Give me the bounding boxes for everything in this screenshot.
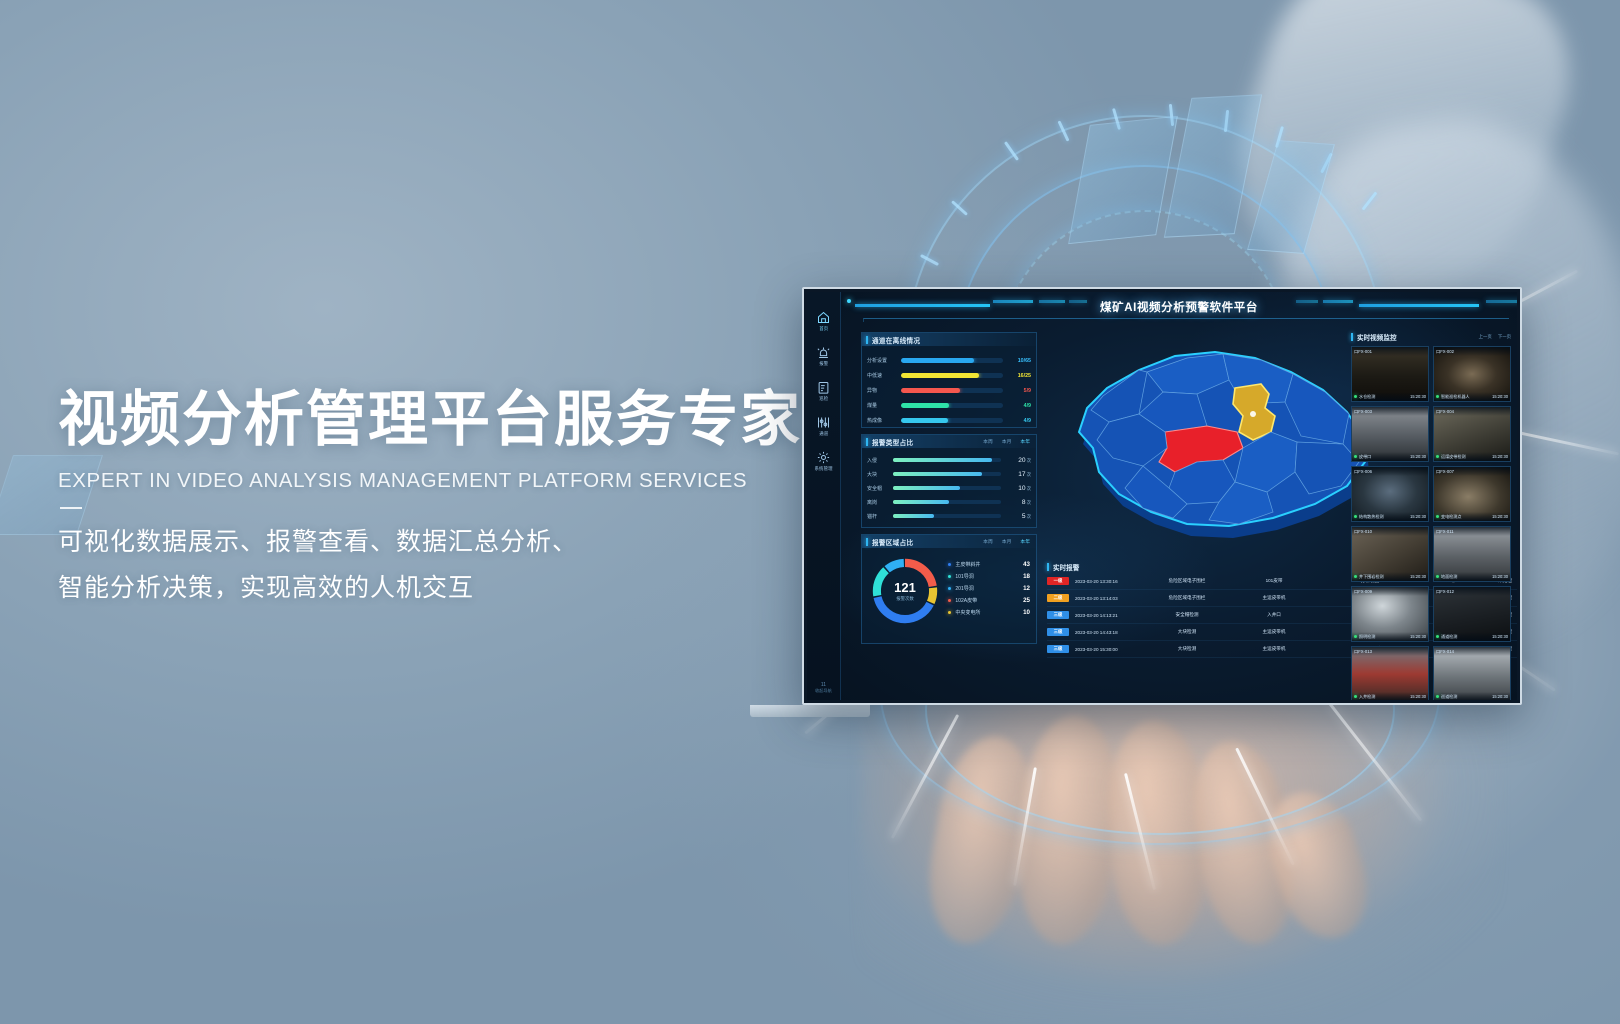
- page-subtitle: EXPERT IN VIDEO ANALYSIS MANAGEMENT PLAT…: [58, 469, 838, 493]
- video-bottom-overlay: 结构散热检测15:20:30: [1352, 512, 1428, 521]
- video-name: 照明检测: [1359, 634, 1375, 640]
- video-channel-tag: 口FX-011: [1436, 529, 1454, 535]
- alarm-type-unit: 次: [1027, 500, 1031, 505]
- channel-row-track: [901, 358, 1003, 363]
- legend-label: 201导洞: [955, 585, 973, 592]
- divider: [60, 507, 82, 509]
- alarm-type-value: 20次: [1001, 457, 1031, 464]
- video-bottom-overlay: 运煤皮带检测15:20:30: [1434, 452, 1510, 461]
- video-channel-tag: 口FX-009: [1354, 589, 1372, 595]
- alarm-type-fill: [893, 472, 982, 477]
- alarm-type-value: 10次: [1001, 485, 1031, 492]
- alarm-type-row: 离岗8次: [867, 495, 1031, 509]
- video-name: 水仓检测: [1359, 394, 1375, 400]
- status-badge: 三级: [1047, 645, 1069, 653]
- video-timestamp: 15:20:30: [1492, 694, 1508, 699]
- alarm-type-value: 17次: [1001, 471, 1031, 478]
- online-status-dot: [1436, 455, 1439, 458]
- legend-value: 18: [1023, 573, 1030, 580]
- channel-row-label: 煤量: [867, 402, 901, 409]
- video-timestamp: 15:20:30: [1410, 514, 1426, 519]
- video-bottom-overlay: 巡道检测15:20:30: [1434, 692, 1510, 700]
- video-channel-tag: 口FX-004: [1436, 409, 1454, 415]
- channel-row-track: [901, 388, 1003, 393]
- video-cell[interactable]: 口FX-006结构散热检测15:20:30: [1351, 466, 1429, 522]
- channel-row-fill: [901, 358, 974, 363]
- alarm-location: 主运皮带机: [1233, 646, 1315, 652]
- channel-row-value: 4/9: [1003, 403, 1031, 409]
- video-bottom-overlay: 智能巡检机器人15:20:30: [1434, 392, 1510, 401]
- video-monitor-panel: 实时视频监控 上一页 下一页 口FX-001水仓检测15:20:30口FX-00…: [1351, 330, 1511, 694]
- alarm-type-value: 5次: [1001, 513, 1031, 520]
- monitor-stand: [750, 705, 870, 717]
- video-channel-tag: 口FX-006: [1354, 469, 1372, 475]
- video-bottom-overlay: 皮带口15:20:30: [1352, 452, 1428, 461]
- app-title: 煤矿AI视频分析预警软件平台: [841, 299, 1517, 315]
- video-timestamp: 15:20:30: [1410, 634, 1426, 639]
- alarm-area-panel: 报警区域占比 本周本月本年 121 报警次数 主皮带斜井43101导洞18201…: [861, 534, 1037, 644]
- video-channel-tag: 口FX-001: [1354, 349, 1372, 355]
- video-bottom-overlay: 通道检测15:20:30: [1434, 632, 1510, 641]
- legend-color-dot: [948, 599, 951, 602]
- time-range-tabs: 本周本月本年: [983, 438, 1032, 445]
- video-timestamp: 15:20:30: [1410, 694, 1426, 699]
- online-status-dot: [1354, 695, 1357, 698]
- video-channel-tag: 口FX-010: [1354, 529, 1372, 535]
- video-top-overlay: 口FX-001: [1352, 347, 1428, 356]
- channel-row-label: 分析设置: [867, 357, 901, 364]
- legend-color-dot: [948, 563, 951, 566]
- legend-label: 101导洞: [955, 573, 973, 580]
- alarm-type-panel: 报警类型占比 本周本月本年 入侵20次大块17次安全帽10次离岗8次锚杆5次: [861, 434, 1037, 528]
- status-badge: 二级: [1047, 594, 1069, 602]
- time-range-tab[interactable]: 本月: [1002, 538, 1012, 545]
- video-top-overlay: 口FX-004: [1434, 407, 1510, 416]
- time-range-tab[interactable]: 本月: [1002, 438, 1012, 445]
- map-svg: [1047, 330, 1387, 555]
- channel-row-value: 16/25: [1003, 373, 1031, 379]
- online-status-dot: [1436, 515, 1439, 518]
- video-cell[interactable]: 口FX-011地面检测15:20:30: [1433, 526, 1511, 582]
- legend-value: 43: [1023, 561, 1030, 568]
- channel-row-label: 中低速: [867, 372, 901, 379]
- legend-value: 10: [1023, 609, 1030, 616]
- alarm-type-track: [893, 472, 1001, 477]
- online-status-dot: [1354, 635, 1357, 638]
- video-name: 地面检测: [1441, 574, 1457, 580]
- channel-row: 分析设置10/65: [867, 353, 1031, 368]
- alarm-location: 101皮带: [1233, 578, 1315, 584]
- channel-row-fill: [901, 373, 979, 378]
- video-timestamp: 15:20:30: [1410, 574, 1426, 579]
- video-cell[interactable]: 口FX-012通道检测15:20:30: [1433, 586, 1511, 642]
- time-range-tabs: 本周本月本年: [983, 538, 1032, 545]
- next-page-button[interactable]: 下一页: [1498, 334, 1511, 340]
- channel-row-label: 热成像: [867, 417, 901, 424]
- sidebar-item-label: 巡检: [819, 396, 828, 402]
- channel-row-fill: [901, 388, 960, 393]
- dashboard-content: 煤矿AI视频分析预警软件平台: [841, 292, 1517, 700]
- hero-description-line1: 可视化数据展示、报警查看、数据汇总分析、: [58, 519, 838, 565]
- alarm-type-unit: 次: [1027, 458, 1031, 463]
- donut-chart[interactable]: 121 报警次数: [868, 554, 942, 628]
- alarm-type-track: [893, 514, 1001, 519]
- alarm-time: 2023-03-20 15:30:00: [1069, 647, 1141, 652]
- alarm-type-fill: [893, 500, 949, 505]
- alarm-location: 入井口: [1233, 612, 1315, 618]
- online-status-dot: [1436, 635, 1439, 638]
- legend-color-dot: [948, 587, 951, 590]
- panel-title: 通道在离线情况: [872, 335, 920, 345]
- online-status-dot: [1354, 515, 1357, 518]
- alarm-type-fill: [893, 486, 960, 491]
- channel-status-panel: 通道在离线情况 分析设置10/65中低速16/25异物5/9煤量4/9热成像4/…: [861, 332, 1037, 428]
- video-top-overlay: 口FX-012: [1434, 587, 1510, 596]
- video-timestamp: 15:20:30: [1492, 634, 1508, 639]
- panel-header: 通道在离线情况: [862, 333, 1036, 346]
- panel-title: 实时报警: [1053, 562, 1079, 572]
- alarm-type: 大块检测: [1141, 646, 1233, 652]
- online-status-dot: [1436, 695, 1439, 698]
- video-cell[interactable]: 口FX-004运煤皮带检测15:20:30: [1433, 406, 1511, 462]
- video-channel-tag: 口FX-007: [1436, 469, 1454, 475]
- alarm-type-track: [893, 500, 1001, 505]
- online-status-dot: [1436, 575, 1439, 578]
- legend-item[interactable]: 主皮带斜井43: [948, 561, 1030, 568]
- video-top-overlay: 口FX-014: [1434, 647, 1510, 656]
- sidebar-item-inspection[interactable]: 巡检: [816, 380, 831, 402]
- alarm-type-label: 安全帽: [867, 485, 893, 492]
- panel-title: 报警类型占比: [872, 437, 913, 447]
- legend-item[interactable]: 中央变电所10: [948, 609, 1030, 616]
- dashboard-monitor: 首页 报警 巡检 通道: [802, 287, 1522, 705]
- panel-header: 实时视频监控 上一页 下一页: [1351, 330, 1511, 343]
- video-name: 井下围岩检测: [1359, 574, 1384, 580]
- clipboard-icon: [816, 380, 831, 395]
- legend-label: 102A皮带: [955, 597, 977, 604]
- home-icon: [816, 310, 831, 325]
- video-bottom-overlay: 井下围岩检测15:20:30: [1352, 572, 1428, 581]
- online-status-dot: [1354, 575, 1357, 578]
- header-bar: 煤矿AI视频分析预警软件平台: [841, 292, 1517, 326]
- video-name: 变电检测点: [1441, 514, 1461, 520]
- video-top-overlay: 口FX-006: [1352, 467, 1428, 476]
- donut-center: 121 报警次数: [868, 554, 942, 628]
- video-name: 智能巡检机器人: [1441, 394, 1470, 400]
- legend-color-dot: [948, 575, 951, 578]
- video-name: 皮带口: [1359, 454, 1371, 460]
- alarm-type-label: 大块: [867, 471, 893, 478]
- video-timestamp: 15:20:30: [1492, 514, 1508, 519]
- channel-row: 热成像4/9: [867, 413, 1031, 428]
- alarm-type-fill: [893, 514, 934, 519]
- alarm-type-label: 入侵: [867, 457, 893, 464]
- video-name: 运煤皮带检测: [1441, 454, 1466, 460]
- video-name: 通道检测: [1441, 634, 1457, 640]
- legend-color-dot: [948, 611, 951, 614]
- legend-item[interactable]: 101导洞18: [948, 573, 1030, 580]
- time-range-tab[interactable]: 本周: [983, 538, 993, 545]
- alarm-time: 2023-03-20 13:14:03: [1069, 596, 1141, 601]
- donut-legend: 主皮带斜井43101导洞18201导洞12102A皮带25中央变电所10: [942, 554, 1032, 628]
- sidebar-item-channel[interactable]: 通道: [816, 415, 831, 437]
- channel-row: 中低速16/25: [867, 368, 1031, 383]
- legend-value: 25: [1023, 597, 1030, 604]
- sidebar-item-label: 报警: [819, 361, 828, 367]
- status-badge: 三级: [1047, 611, 1069, 619]
- panel-header: 报警区域占比 本周本月本年: [862, 535, 1036, 548]
- video-cell[interactable]: 口FX-014巡道检测15:20:30: [1433, 646, 1511, 700]
- sidebar-footer[interactable]: 11 收起导航: [815, 682, 832, 694]
- alarm-type-unit: 次: [1027, 486, 1031, 491]
- alarm-type-fill: [893, 458, 992, 463]
- time-range-tab[interactable]: 本周: [983, 438, 993, 445]
- sidebar-item-label: 通道: [819, 431, 828, 437]
- alarm-type-label: 离岗: [867, 499, 893, 506]
- sidebar-item-system[interactable]: 系统管理: [814, 450, 833, 472]
- online-status-dot: [1354, 455, 1357, 458]
- video-cell[interactable]: 口FX-003皮带口15:20:30: [1351, 406, 1429, 462]
- video-bottom-overlay: 入井检测15:20:30: [1352, 692, 1428, 700]
- alarm-type-label: 锚杆: [867, 513, 893, 520]
- channel-row-value: 4/9: [1003, 418, 1031, 424]
- alarm-type-unit: 次: [1027, 472, 1031, 477]
- channel-row-value: 10/65: [1003, 358, 1031, 364]
- status-badge: 三级: [1047, 628, 1069, 636]
- video-grid: 口FX-001水仓检测15:20:30口FX-002智能巡检机器人15:20:3…: [1351, 346, 1511, 700]
- alarm-type: 危险区域电子围栏: [1141, 578, 1233, 584]
- video-timestamp: 15:20:30: [1410, 394, 1426, 399]
- video-channel-tag: 口FX-012: [1436, 589, 1454, 595]
- donut-center-value: 121: [894, 581, 916, 594]
- sidebar-item-label: 首页: [819, 326, 828, 332]
- video-top-overlay: 口FX-010: [1352, 527, 1428, 536]
- online-status-dot: [1354, 395, 1357, 398]
- sidebar-item-label: 系统管理: [814, 466, 832, 472]
- channel-row-track: [901, 373, 1003, 378]
- donut-center-label: 报警次数: [896, 596, 914, 602]
- donut-chart-wrap: 121 报警次数 主皮带斜井43101导洞18201导洞12102A皮带25中央…: [862, 548, 1036, 628]
- alarm-time: 2023-03-20 14:43:18: [1069, 630, 1141, 635]
- channel-row-fill: [901, 418, 948, 423]
- alarm-type-value: 8次: [1001, 499, 1031, 506]
- video-bottom-overlay: 变电检测点15:20:30: [1434, 512, 1510, 521]
- video-cell[interactable]: 口FX-007变电检测点15:20:30: [1433, 466, 1511, 522]
- channel-row-track: [901, 418, 1003, 423]
- alarm-type: 大块检测: [1141, 629, 1233, 635]
- channel-row-fill: [901, 403, 949, 408]
- sidebar-item-alarm[interactable]: 报警: [816, 345, 831, 367]
- time-range-tab[interactable]: 本年: [1020, 538, 1030, 545]
- alarm-location: 主运皮带机: [1233, 595, 1315, 601]
- video-name: 结构散热检测: [1359, 514, 1384, 520]
- video-top-overlay: 口FX-007: [1434, 467, 1510, 476]
- legend-label: 主皮带斜井: [955, 561, 980, 568]
- alarm-type-row: 安全帽10次: [867, 481, 1031, 495]
- alarm-type: 安全帽检测: [1141, 612, 1233, 618]
- gear-icon: [816, 450, 831, 465]
- region-map[interactable]: [1047, 330, 1387, 555]
- channel-row-value: 5/9: [1003, 388, 1031, 394]
- alarm-icon: [816, 345, 831, 360]
- video-bottom-overlay: 水仓检测15:20:30: [1352, 392, 1428, 401]
- alarm-type-row: 大块17次: [867, 467, 1031, 481]
- video-name: 巡道检测: [1441, 694, 1457, 700]
- video-cell[interactable]: 口FX-009照明检测15:20:30: [1351, 586, 1429, 642]
- video-name: 入井检测: [1359, 694, 1375, 700]
- channel-icon: [816, 415, 831, 430]
- legend-item[interactable]: 201导洞12: [948, 585, 1030, 592]
- video-pagination: 上一页 下一页: [1479, 334, 1511, 340]
- alarm-time: 2023-03-20 14:13:21: [1069, 613, 1141, 618]
- dashboard-screen: 首页 报警 巡检 通道: [807, 292, 1517, 700]
- sidebar: 首页 报警 巡检 通道: [807, 292, 841, 700]
- alarm-type-rows: 入侵20次大块17次安全帽10次离岗8次锚杆5次: [862, 448, 1036, 523]
- alarm-type-track: [893, 486, 1001, 491]
- channel-row-label: 异物: [867, 387, 901, 394]
- video-top-overlay: 口FX-011: [1434, 527, 1510, 536]
- channel-rows: 分析设置10/65中低速16/25异物5/9煤量4/9热成像4/9: [862, 346, 1036, 428]
- panel-header: 报警类型占比 本周本月本年: [862, 435, 1036, 448]
- channel-row-track: [901, 403, 1003, 408]
- status-badge: 一级: [1047, 577, 1069, 585]
- alarm-type-row: 入侵20次: [867, 453, 1031, 467]
- video-cell[interactable]: 口FX-002智能巡检机器人15:20:30: [1433, 346, 1511, 402]
- video-timestamp: 15:20:30: [1410, 454, 1426, 459]
- alarm-type: 危险区域电子围栏: [1141, 595, 1233, 601]
- video-bottom-overlay: 照明检测15:20:30: [1352, 632, 1428, 641]
- video-cell[interactable]: 口FX-010井下围岩检测15:20:30: [1351, 526, 1429, 582]
- legend-label: 中央变电所: [955, 609, 980, 616]
- video-channel-tag: 口FX-013: [1354, 649, 1372, 655]
- legend-value: 12: [1023, 585, 1030, 592]
- online-status-dot: [1436, 395, 1439, 398]
- video-timestamp: 15:20:30: [1492, 394, 1508, 399]
- video-top-overlay: 口FX-013: [1352, 647, 1428, 656]
- alarm-type-unit: 次: [1027, 514, 1031, 519]
- page-title: 视频分析管理平台服务专家: [58, 386, 838, 453]
- sidebar-item-home[interactable]: 首页: [816, 310, 831, 332]
- video-cell[interactable]: 口FX-013入井检测15:20:30: [1351, 646, 1429, 700]
- prev-page-button[interactable]: 上一页: [1479, 334, 1492, 340]
- hero-text-block: 视频分析管理平台服务专家 EXPERT IN VIDEO ANALYSIS MA…: [58, 386, 838, 612]
- panel-title: 报警区域占比: [872, 537, 913, 547]
- time-range-tab[interactable]: 本年: [1020, 438, 1030, 445]
- video-timestamp: 15:20:30: [1492, 574, 1508, 579]
- video-cell[interactable]: 口FX-001水仓检测15:20:30: [1351, 346, 1429, 402]
- video-channel-tag: 口FX-003: [1354, 409, 1372, 415]
- alarm-location: 主运皮带机: [1233, 629, 1315, 635]
- video-top-overlay: 口FX-003: [1352, 407, 1428, 416]
- video-top-overlay: 口FX-002: [1434, 347, 1510, 356]
- video-channel-tag: 口FX-014: [1436, 649, 1454, 655]
- channel-row: 异物5/9: [867, 383, 1031, 398]
- video-channel-tag: 口FX-002: [1436, 349, 1454, 355]
- video-timestamp: 15:20:30: [1492, 454, 1508, 459]
- alarm-type-track: [893, 458, 1001, 463]
- alarm-type-row: 锚杆5次: [867, 509, 1031, 523]
- legend-item[interactable]: 102A皮带25: [948, 597, 1030, 604]
- video-top-overlay: 口FX-009: [1352, 587, 1428, 596]
- hero-description-line2: 智能分析决策，实现高效的人机交互: [58, 565, 838, 611]
- channel-row: 煤量4/9: [867, 398, 1031, 413]
- video-bottom-overlay: 地面检测15:20:30: [1434, 572, 1510, 581]
- sidebar-footer-label: 收起导航: [815, 688, 832, 694]
- alarm-time: 2023-03-20 13:30:16: [1069, 579, 1141, 584]
- panel-title: 实时视频监控: [1357, 332, 1397, 342]
